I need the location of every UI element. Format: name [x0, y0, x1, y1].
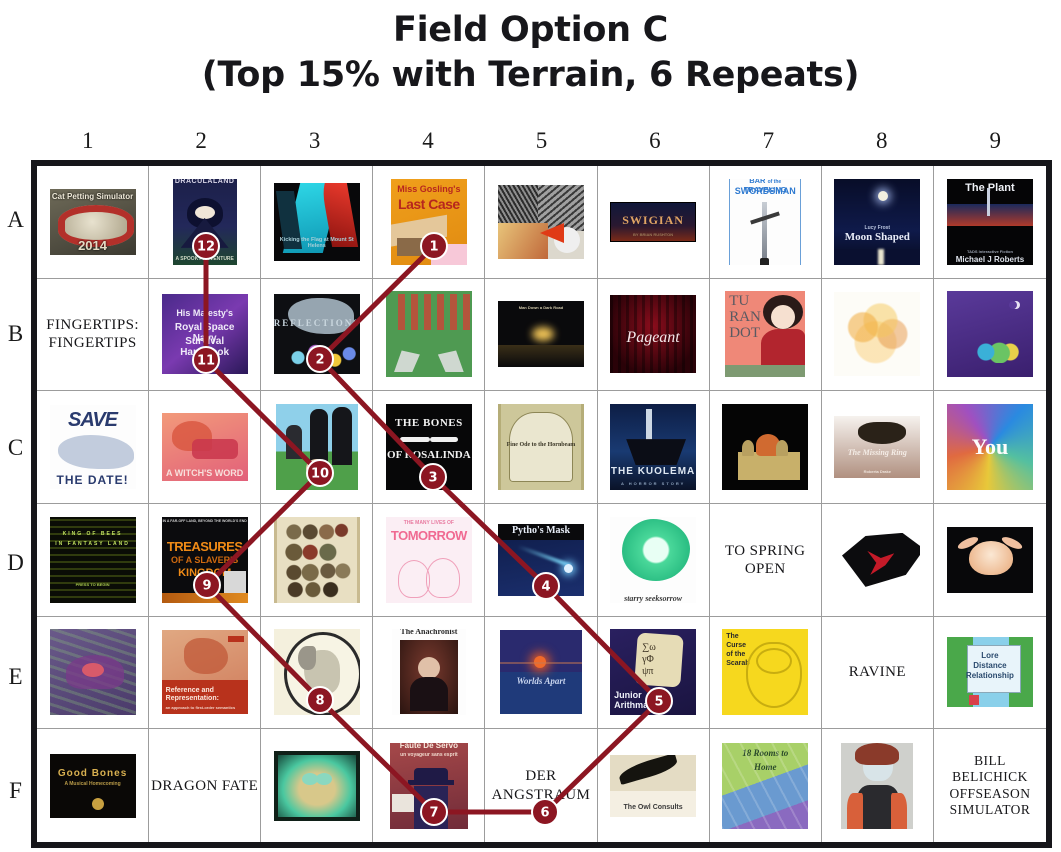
grid-cell-F6[interactable]: The Owl Consults: [598, 729, 710, 842]
grid-cell-E6[interactable]: ∑ωγΦψπ Junior Arithmancer: [598, 617, 710, 730]
cell-thumbnail-D1: KING OF BEES IN FANTASY LAND PRESS TO BE…: [50, 517, 136, 603]
grid-cell-C2[interactable]: A WITCH'S WORD: [149, 391, 261, 504]
cell-thumbnail-B5: Man Down a Dark Road: [498, 291, 584, 377]
cell-thumbnail-D3: [274, 517, 360, 603]
cell-text-F5: DER ANGSTRAUM: [487, 767, 594, 804]
grid-cell-C9[interactable]: You: [934, 391, 1046, 504]
title-line-1: Field Option C: [393, 10, 668, 50]
column-header-3: 3: [258, 128, 371, 158]
row-header-C: C: [0, 391, 31, 505]
cell-thumbnail-D4: THE MANY LIVES OF TOMORROW: [386, 517, 472, 603]
cell-thumbnail-D6: starry seeksorrow: [610, 517, 696, 603]
cell-thumbnail-C5: Fine Ode to the Hornbeam: [498, 404, 584, 490]
grid-cell-B9[interactable]: [934, 279, 1046, 392]
cell-text-E8: RAVINE: [849, 663, 906, 681]
cell-thumbnail-C9: You: [947, 404, 1033, 490]
grid-cell-E1[interactable]: [37, 617, 149, 730]
grid-cell-B4[interactable]: [373, 279, 485, 392]
cell-thumbnail-E4: The Anachronist: [386, 629, 472, 715]
column-header-1: 1: [31, 128, 144, 158]
grid-cell-F5[interactable]: DER ANGSTRAUM: [485, 729, 597, 842]
grid-cell-D4[interactable]: THE MANY LIVES OF TOMORROW: [373, 504, 485, 617]
grid-cell-F9[interactable]: BILL BELICHICK OFFSEASON SIMULATOR: [934, 729, 1046, 842]
cell-thumbnail-E1: [50, 629, 136, 715]
cell-thumbnail-A6: SWIGIAN BY BRIAN RUSHTON: [610, 179, 696, 265]
cell-thumbnail-F4: Faute De Servo un voyageur sans esprit: [386, 743, 472, 829]
grid-cell-E4[interactable]: The Anachronist: [373, 617, 485, 730]
grid-cell-B1[interactable]: FINGERTIPS: FINGERTIPS: [37, 279, 149, 392]
column-headers: 123456789: [31, 128, 1052, 158]
grid-cell-D1[interactable]: KING OF BEES IN FANTASY LAND PRESS TO BE…: [37, 504, 149, 617]
column-header-7: 7: [712, 128, 825, 158]
grid-cell-A4[interactable]: Miss Gosling's Last Case: [373, 166, 485, 279]
grid-cell-B8[interactable]: [822, 279, 934, 392]
cell-text-F2: DRAGON FATE: [151, 777, 258, 795]
grid-cell-B7[interactable]: TURANDOT: [710, 279, 822, 392]
grid-cell-A5[interactable]: [485, 166, 597, 279]
column-header-6: 6: [598, 128, 711, 158]
row-header-E: E: [0, 620, 31, 734]
cell-thumbnail-B4: [386, 291, 472, 377]
cell-thumbnail-D8: [834, 517, 920, 603]
row-header-A: A: [0, 163, 31, 277]
grid-cell-C8[interactable]: The Missing Ring Roberta Drake: [822, 391, 934, 504]
cell-thumbnail-B2: His Majesty's Royal Space Navy Survival …: [162, 291, 248, 377]
grid-cell-B5[interactable]: Man Down a Dark Road: [485, 279, 597, 392]
grid-cell-B3[interactable]: REFLECTIONS: [261, 279, 373, 392]
grid-cell-D9[interactable]: [934, 504, 1046, 617]
grid-cell-C1[interactable]: SAVE THE DATE!: [37, 391, 149, 504]
cell-thumbnail-E7: TheCurseof theScarab: [722, 629, 808, 715]
cell-thumbnail-A7: BAR of the TRAVELING SWORDSMAN: [722, 179, 808, 265]
cell-thumbnail-E2: Reference and Representation: an approac…: [162, 629, 248, 715]
grid-cell-E3[interactable]: [261, 617, 373, 730]
grid-cell-D2[interactable]: IN A FAR-OFF LAND, BEYOND THE WORLD'S EN…: [149, 504, 261, 617]
grid-cell-E8[interactable]: RAVINE: [822, 617, 934, 730]
cell-thumbnail-E5: Worlds Apart: [498, 629, 584, 715]
grid-cell-A9[interactable]: The Plant TADS Interactive Fiction Micha…: [934, 166, 1046, 279]
cell-thumbnail-E9: Lore Distance Relationship: [947, 629, 1033, 715]
cell-thumbnail-B6: Pageant: [610, 291, 696, 377]
grid-cell-D3[interactable]: [261, 504, 373, 617]
cell-thumbnail-B9: [947, 291, 1033, 377]
cell-text-D7: TO SPRING OPEN: [712, 542, 819, 579]
cell-text-B1: FINGERTIPS: FINGERTIPS: [39, 316, 146, 353]
row-header-D: D: [0, 506, 31, 620]
cell-thumbnail-F6: The Owl Consults: [610, 743, 696, 829]
grid-cell-C6[interactable]: THE KUOLEMA A HORROR STORY: [598, 391, 710, 504]
cell-thumbnail-E3: [274, 629, 360, 715]
row-header-B: B: [0, 277, 31, 391]
cell-thumbnail-A5: [498, 179, 584, 265]
cell-thumbnail-C7: [722, 404, 808, 490]
cell-thumbnail-D2: IN A FAR-OFF LAND, BEYOND THE WORLD'S EN…: [162, 517, 248, 603]
grid-cell-A3[interactable]: Kicking the Flag at Mount St Helens: [261, 166, 373, 279]
cell-thumbnail-F7: 18 Rooms to Home: [722, 743, 808, 829]
grid-cell-D6[interactable]: starry seeksorrow: [598, 504, 710, 617]
page-title: Field Option C (Top 15% with Terrain, 6 …: [0, 8, 1061, 98]
grid-cell-C3[interactable]: [261, 391, 373, 504]
cell-thumbnail-A8: Lucy Frost Moon Shaped: [834, 179, 920, 265]
column-header-9: 9: [939, 128, 1052, 158]
cell-thumbnail-A9: The Plant TADS Interactive Fiction Micha…: [947, 179, 1033, 265]
grid-cell-A1[interactable]: Cat Petting Simulator 2014: [37, 166, 149, 279]
row-header-F: F: [0, 734, 31, 848]
grid-cell-E7[interactable]: TheCurseof theScarab: [710, 617, 822, 730]
cell-thumbnail-C6: THE KUOLEMA A HORROR STORY: [610, 404, 696, 490]
grid-cell-F3[interactable]: [261, 729, 373, 842]
column-header-4: 4: [371, 128, 484, 158]
cell-thumbnail-F1: Good Bones A Musical Homecoming: [50, 743, 136, 829]
grid-cell-B2[interactable]: His Majesty's Royal Space Navy Survival …: [149, 279, 261, 392]
cell-thumbnail-D5: Pytho's Mask: [498, 517, 584, 603]
cell-thumbnail-A4: Miss Gosling's Last Case: [386, 179, 472, 265]
grid-cell-A6[interactable]: SWIGIAN BY BRIAN RUSHTON: [598, 166, 710, 279]
cell-thumbnail-D9: [947, 517, 1033, 603]
grid-cell-A2[interactable]: DRACULALAND A SPOOKY ADVENTURE: [149, 166, 261, 279]
grid-cell-F2[interactable]: DRAGON FATE: [149, 729, 261, 842]
cell-thumbnail-C8: The Missing Ring Roberta Drake: [834, 404, 920, 490]
cell-thumbnail-B8: [834, 291, 920, 377]
cell-thumbnail-A2: DRACULALAND A SPOOKY ADVENTURE: [162, 179, 248, 265]
grid-cell-A7[interactable]: BAR of the TRAVELING SWORDSMAN: [710, 166, 822, 279]
column-header-2: 2: [144, 128, 257, 158]
cell-text-F9: BILL BELICHICK OFFSEASON SIMULATOR: [936, 753, 1044, 819]
grid-cell-A8[interactable]: Lucy Frost Moon Shaped: [822, 166, 934, 279]
grid-cell-E5[interactable]: Worlds Apart: [485, 617, 597, 730]
grid-cell-F8[interactable]: [822, 729, 934, 842]
grid-cell-C7[interactable]: [710, 391, 822, 504]
column-header-8: 8: [825, 128, 938, 158]
row-headers: ABCDEF: [0, 163, 31, 848]
grid-cell-B6[interactable]: Pageant: [598, 279, 710, 392]
grid-cell-C5[interactable]: Fine Ode to the Hornbeam: [485, 391, 597, 504]
cell-thumbnail-B3: REFLECTIONS: [274, 291, 360, 377]
grid-cell-C4[interactable]: THE BONES OF ROSALINDA: [373, 391, 485, 504]
title-line-2: (Top 15% with Terrain, 6 Repeats): [0, 53, 1061, 98]
grid-cell-F7[interactable]: 18 Rooms to Home: [710, 729, 822, 842]
cell-thumbnail-E6: ∑ωγΦψπ Junior Arithmancer: [610, 629, 696, 715]
cell-thumbnail-C2: A WITCH'S WORD: [162, 404, 248, 490]
grid-cell-D7[interactable]: TO SPRING OPEN: [710, 504, 822, 617]
cell-thumbnail-C3: [274, 404, 360, 490]
grid-cell-D8[interactable]: [822, 504, 934, 617]
grid: Cat Petting Simulator 2014 DRACULALAND A…: [37, 166, 1046, 842]
grid-cell-E2[interactable]: Reference and Representation: an approac…: [149, 617, 261, 730]
grid-cell-F1[interactable]: Good Bones A Musical Homecoming: [37, 729, 149, 842]
grid-frame: Cat Petting Simulator 2014 DRACULALAND A…: [31, 160, 1052, 848]
cell-thumbnail-B7: TURANDOT: [722, 291, 808, 377]
cell-thumbnail-C1: SAVE THE DATE!: [50, 404, 136, 490]
column-header-5: 5: [485, 128, 598, 158]
cell-thumbnail-F8: [834, 743, 920, 829]
cell-thumbnail-F3: [274, 743, 360, 829]
grid-cell-F4[interactable]: Faute De Servo un voyageur sans esprit: [373, 729, 485, 842]
grid-cell-E9[interactable]: Lore Distance Relationship: [934, 617, 1046, 730]
cell-thumbnail-C4: THE BONES OF ROSALINDA: [386, 404, 472, 490]
cell-thumbnail-A1: Cat Petting Simulator 2014: [50, 179, 136, 265]
cell-thumbnail-A3: Kicking the Flag at Mount St Helens: [274, 179, 360, 265]
grid-cell-D5[interactable]: Pytho's Mask: [485, 504, 597, 617]
